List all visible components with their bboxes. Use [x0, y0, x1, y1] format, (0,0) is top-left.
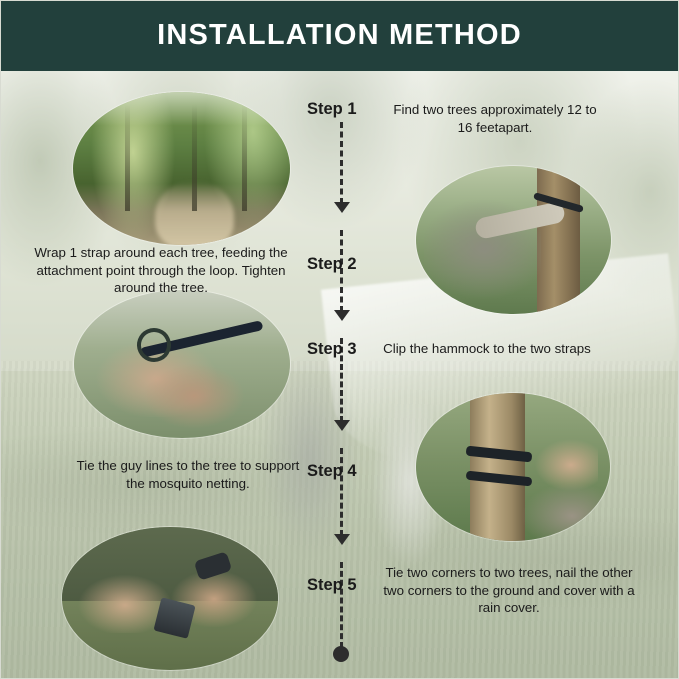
photo-strap-around-tree: [416, 166, 611, 314]
photo-ground-stake-image: [62, 527, 278, 670]
person-crouching: [517, 476, 610, 538]
arrow-dash-5: [340, 562, 343, 648]
installation-instruction-page: INSTALLATION METHOD: [0, 0, 679, 679]
arrow-head-2: [334, 310, 350, 321]
forest-tree-trunk: [192, 104, 197, 211]
step-caption-5: Tie two corners to two trees, nail the o…: [382, 564, 636, 617]
step-label-4: Step 4: [307, 462, 357, 481]
forest-tree-trunk: [242, 104, 247, 211]
photo-strap-around-tree-image: [416, 166, 611, 314]
right-hand: [139, 361, 247, 428]
arrow-dash-1: [340, 122, 343, 204]
page-title: INSTALLATION METHOD: [157, 19, 522, 52]
step-label-1: Step 1: [307, 100, 357, 119]
photo-strap-on-trunk-image: [416, 393, 610, 541]
ground-stake: [153, 598, 195, 640]
photo-forest-trail-image: [73, 92, 290, 245]
arrow-end-dot: [333, 646, 349, 662]
step-caption-2: Wrap 1 strap around each tree, feeding t…: [20, 244, 302, 297]
photo-strap-on-trunk: [416, 393, 610, 541]
header-bar: INSTALLATION METHOD: [0, 0, 679, 71]
tree-trunk: [537, 166, 580, 314]
step-caption-4: Tie the guy lines to the tree to support…: [68, 457, 308, 492]
step-label-3: Step 3: [307, 340, 357, 359]
photo-carabiner-clip-image: [74, 290, 290, 438]
arrow-head-1: [334, 202, 350, 213]
arrow-head-3: [334, 420, 350, 431]
photo-forest-trail: [73, 92, 290, 245]
photo-carabiner-clip: [74, 290, 290, 438]
step-label-2: Step 2: [307, 255, 357, 274]
step-label-5: Step 5: [307, 576, 357, 595]
forest-tree-trunk: [125, 104, 130, 211]
arrow-head-4: [334, 534, 350, 545]
photo-ground-stake: [62, 527, 278, 670]
step-caption-1: Find two trees approximately 12 to 16 fe…: [388, 101, 602, 136]
step-caption-3: Clip the hammock to the two straps: [383, 340, 591, 358]
